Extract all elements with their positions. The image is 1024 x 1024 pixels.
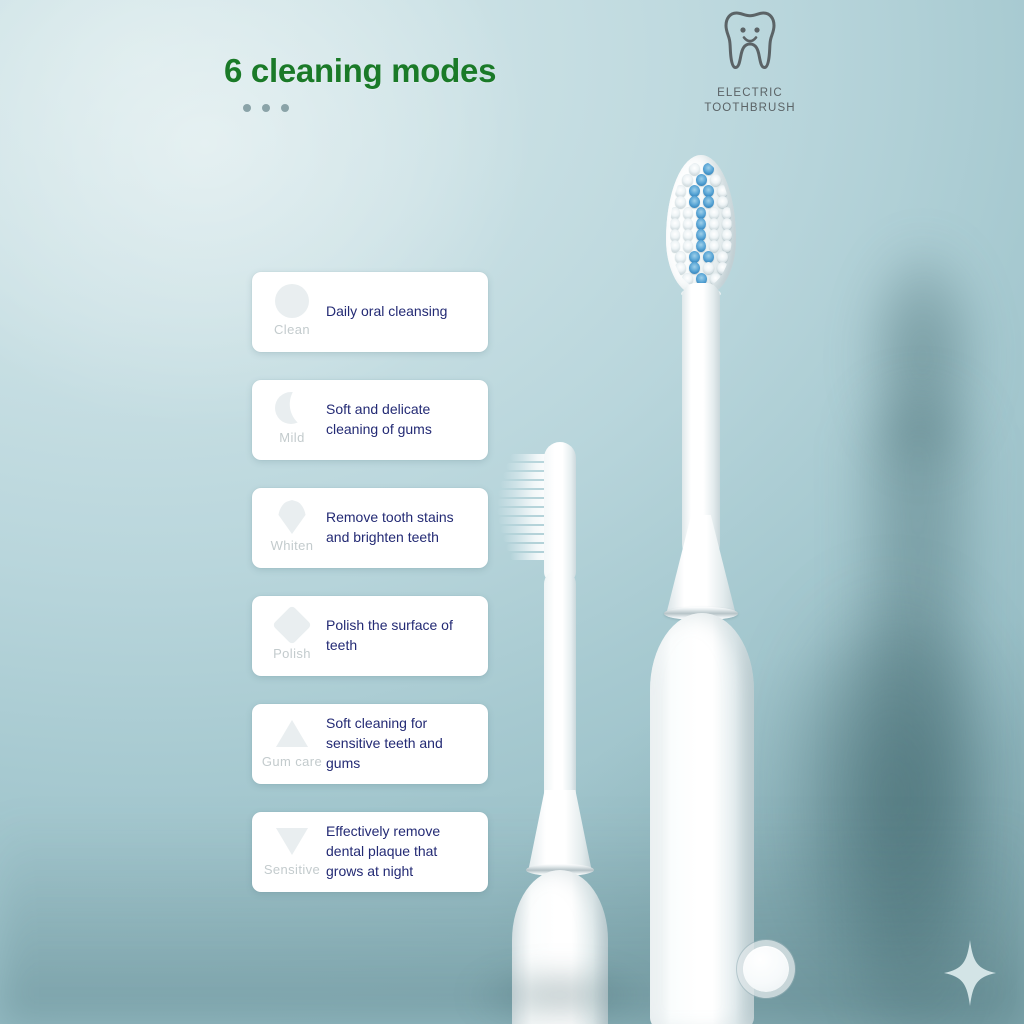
spare-bristle-row: [500, 526, 550, 533]
mode-description: Daily oral cleansing: [324, 302, 478, 322]
mode-badge: Whiten: [260, 498, 324, 558]
brand-block: ELECTRIC TOOTHBRUSH: [686, 10, 814, 116]
brush-body-flare: [666, 515, 736, 615]
pin-drop-icon-shape: [278, 500, 306, 534]
spare-bristle-row: [498, 517, 550, 524]
spare-brush-bristles: [498, 454, 550, 564]
triangle-up-icon-shape: [276, 720, 308, 747]
triangle-up-icon: [275, 716, 309, 750]
spare-bristle-row: [503, 472, 550, 479]
mode-name: Mild: [279, 431, 304, 444]
mode-badge: Mild: [260, 390, 324, 450]
mode-card-clean[interactable]: CleanDaily oral cleansing: [252, 272, 488, 352]
spare-bristle-row: [497, 499, 550, 506]
dot-2: [262, 104, 270, 112]
spare-bristle-row: [497, 508, 550, 515]
mode-name: Whiten: [271, 539, 314, 552]
mode-badge: Polish: [260, 606, 324, 666]
circle-icon-shape: [275, 284, 309, 318]
brand-line-1: ELECTRIC: [686, 86, 814, 101]
brand-line-2: TOOTHBRUSH: [686, 101, 814, 116]
mode-badge: Clean: [260, 282, 324, 342]
four-point-star-icon: [944, 940, 996, 1006]
mode-badge: Sensitive: [260, 822, 324, 882]
mode-name: Sensitive: [264, 863, 320, 876]
circle-icon: [275, 284, 309, 318]
power-button[interactable]: [743, 946, 789, 992]
mode-description: Soft and delicate cleaning of gums: [324, 400, 478, 440]
crescent-moon-icon-shape: [275, 392, 307, 424]
handle-controls: Clean Mild: [650, 613, 754, 1024]
spare-brush-flare: [528, 790, 592, 872]
mode-name: Clean: [274, 323, 310, 336]
pin-drop-icon: [275, 500, 309, 534]
spare-brush-head-body: [544, 442, 576, 582]
spare-bristle-row: [500, 481, 550, 488]
poster-stage: 6 cleaning modes ELECTRIC TOOTHBRUSH Cle…: [0, 0, 1024, 1024]
electric-toothbrush: Clean Mild: [586, 155, 886, 1024]
dot-1: [243, 104, 251, 112]
triangle-down-icon: [275, 824, 309, 858]
brush-head-bristles: [670, 161, 732, 287]
dot-3: [281, 104, 289, 112]
mode-name: Polish: [273, 647, 311, 660]
title-dots-decoration: [243, 104, 289, 112]
mode-badge: Gum care: [260, 714, 324, 774]
spare-bristle-row: [503, 535, 550, 542]
diamond-icon: [275, 608, 309, 642]
diamond-icon-shape: [272, 605, 312, 645]
tooth-smile-icon: [686, 10, 814, 77]
triangle-down-icon-shape: [276, 828, 308, 855]
crescent-moon-icon: [275, 392, 309, 426]
page-title: 6 cleaning modes: [224, 52, 496, 90]
mode-name: Gum care: [262, 755, 322, 768]
spare-bristle-row: [498, 490, 550, 497]
